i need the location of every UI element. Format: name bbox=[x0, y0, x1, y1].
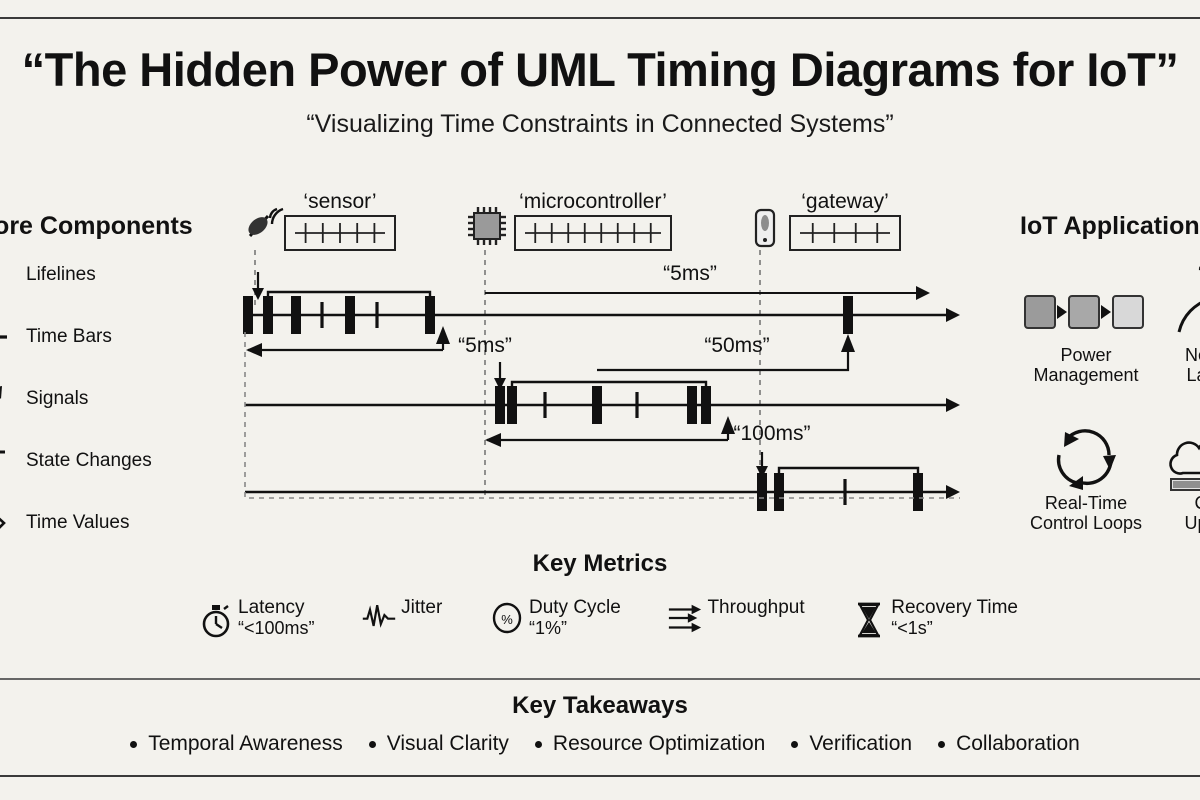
tag-icon bbox=[0, 507, 16, 539]
lifeline-name-0: ‘sensor’ bbox=[303, 190, 376, 213]
bullet-icon bbox=[130, 741, 137, 748]
measure-5ms-top: “5ms” bbox=[663, 262, 717, 285]
state-bracket bbox=[512, 382, 706, 387]
sensor-track bbox=[243, 292, 853, 334]
measure-100ms: “100ms” bbox=[733, 422, 810, 445]
app-label-line1: Network bbox=[1152, 345, 1200, 365]
span-arrow-top bbox=[485, 286, 930, 300]
app-note: ‘RTT’ bbox=[1152, 263, 1200, 279]
lifeline-name-1: ‘microcontroller’ bbox=[519, 190, 667, 213]
state-bracket bbox=[268, 292, 430, 297]
app-item-power-management[interactable]: Power Management bbox=[1020, 263, 1152, 411]
lifeline-header-0 bbox=[285, 216, 395, 250]
app-label-line1: Power bbox=[1020, 345, 1152, 365]
cloud-download-icon bbox=[1152, 427, 1200, 493]
bullet-icon bbox=[791, 741, 798, 748]
time-bar bbox=[320, 302, 323, 328]
time-bar bbox=[635, 392, 638, 418]
section-divider-rule bbox=[0, 678, 1200, 680]
app-note bbox=[1020, 411, 1152, 427]
metric-duty-cycle[interactable]: % Duty Cycle “1%” bbox=[489, 598, 621, 640]
waveform-icon bbox=[361, 598, 397, 631]
time-bar bbox=[425, 296, 435, 334]
takeaway-label: Temporal Awareness bbox=[148, 732, 343, 756]
time-bar bbox=[687, 386, 697, 424]
lifeline-header-1 bbox=[515, 216, 671, 250]
metric-throughput[interactable]: Throughput bbox=[667, 598, 804, 635]
legend-item-state-changes[interactable]: State Changes bbox=[0, 433, 192, 489]
vertical-line-icon bbox=[0, 253, 16, 297]
app-label-line1: Cloud bbox=[1152, 493, 1200, 513]
key-takeaways-row: Temporal Awareness Visual Clarity Resour… bbox=[0, 732, 1200, 756]
key-takeaways-title: Key Takeaways bbox=[0, 692, 1200, 720]
takeaway-label: Resource Optimization bbox=[553, 732, 765, 756]
signal-arrow-0 bbox=[252, 272, 264, 300]
time-bar bbox=[913, 473, 923, 511]
time-bar bbox=[701, 386, 711, 424]
step-change-icon bbox=[0, 446, 16, 476]
measure-5ms-sensor-arrow bbox=[246, 326, 450, 357]
metric-name: Recovery Time bbox=[891, 597, 1018, 618]
time-bar bbox=[495, 386, 505, 424]
satellite-dish-icon bbox=[245, 209, 283, 238]
microcontroller-track bbox=[495, 382, 711, 424]
app-note bbox=[1152, 411, 1200, 427]
time-bar bbox=[345, 296, 355, 334]
takeaway-item[interactable]: Visual Clarity bbox=[343, 732, 509, 756]
key-metrics-title: Key Metrics bbox=[0, 550, 1200, 578]
app-label-line2: Updates bbox=[1152, 513, 1200, 533]
app-item-realtime-control-loops[interactable]: Real-Time Control Loops bbox=[1020, 411, 1152, 559]
page-title: “The Hidden Power of UML Timing Diagrams… bbox=[0, 42, 1200, 97]
time-bar bbox=[375, 302, 378, 328]
time-bar bbox=[843, 479, 846, 505]
page-subtitle: “Visualizing Time Constraints in Connect… bbox=[0, 110, 1200, 139]
legend-item-signals[interactable]: Signals bbox=[0, 371, 192, 427]
takeaway-item[interactable]: Verification bbox=[765, 732, 912, 756]
signal-arrow-2 bbox=[756, 452, 768, 478]
app-label-line1: Real-Time bbox=[1020, 493, 1152, 513]
time-bar bbox=[757, 473, 767, 511]
gateway-track bbox=[757, 468, 923, 511]
time-bar bbox=[592, 386, 602, 424]
time-bar bbox=[243, 296, 253, 334]
signal-arc-icon bbox=[1152, 279, 1200, 345]
lifeline-header-2 bbox=[790, 216, 900, 250]
lifeline-name-2: ‘gateway’ bbox=[801, 190, 889, 213]
legend-label: Time Bars bbox=[26, 326, 112, 348]
legend-item-time-bars[interactable]: Time Bars bbox=[0, 309, 192, 365]
battery-stages-icon bbox=[1020, 279, 1152, 345]
iot-applications-panel: IoT Applications Power Management ‘RTT’ bbox=[1020, 212, 1200, 559]
key-metrics-row: Latency “<100ms” Jitter % Duty Cycle “1%… bbox=[198, 598, 1018, 640]
metric-jitter[interactable]: Jitter bbox=[361, 598, 442, 631]
measure-100ms-arrow bbox=[485, 416, 735, 447]
bullet-icon bbox=[535, 741, 542, 748]
app-item-network-latency[interactable]: ‘RTT’ Network Latency bbox=[1152, 263, 1200, 411]
legend-label: State Changes bbox=[26, 450, 152, 472]
legend-item-lifelines[interactable]: Lifelines bbox=[0, 247, 192, 303]
bullet-icon bbox=[938, 741, 945, 748]
metric-latency[interactable]: Latency “<100ms” bbox=[198, 598, 315, 640]
takeaway-item[interactable]: Collaboration bbox=[912, 732, 1080, 756]
metric-value: “1%” bbox=[529, 618, 567, 638]
bottom-frame-rule bbox=[0, 775, 1200, 777]
legend-label: Time Values bbox=[26, 512, 129, 534]
state-bracket bbox=[779, 468, 918, 474]
time-bar bbox=[543, 392, 546, 418]
time-bar bbox=[843, 296, 853, 334]
bullet-icon bbox=[369, 741, 376, 748]
metric-value: “<100ms” bbox=[238, 618, 315, 638]
chip-icon bbox=[468, 207, 506, 245]
metric-value: “<1s” bbox=[891, 618, 933, 638]
measure-50ms: “50ms” bbox=[704, 334, 769, 357]
metric-name: Latency bbox=[238, 597, 305, 618]
metric-name: Duty Cycle bbox=[529, 597, 621, 618]
signal-arrow-1 bbox=[494, 362, 506, 390]
measure-5ms-sensor: “5ms” bbox=[458, 334, 512, 357]
app-item-cloud-updates[interactable]: Cloud Updates bbox=[1152, 411, 1200, 559]
app-label-line2: Management bbox=[1020, 365, 1152, 385]
iot-applications-title: IoT Applications bbox=[1020, 212, 1200, 241]
stopwatch-icon bbox=[198, 598, 234, 639]
metric-recovery-time[interactable]: Recovery Time “<1s” bbox=[851, 598, 1018, 640]
app-label-line2: Latency bbox=[1152, 365, 1200, 385]
legend-item-time-values[interactable]: Time Values bbox=[0, 495, 192, 551]
time-bar bbox=[507, 386, 517, 424]
takeaway-label: Verification bbox=[809, 732, 912, 756]
takeaway-item[interactable]: Resource Optimization bbox=[509, 732, 765, 756]
time-bar bbox=[774, 473, 784, 511]
measure-50ms-arrow bbox=[597, 334, 855, 370]
sensor-track-axis bbox=[245, 308, 960, 322]
time-bar bbox=[263, 296, 273, 334]
takeaway-label: Visual Clarity bbox=[387, 732, 509, 756]
takeaway-label: Collaboration bbox=[956, 732, 1080, 756]
throughput-arrows-icon bbox=[667, 598, 703, 635]
gateway-track-axis bbox=[245, 485, 960, 499]
metric-name: Throughput bbox=[707, 597, 804, 618]
hourglass-icon bbox=[851, 598, 887, 639]
legend-label: Signals bbox=[26, 388, 88, 410]
outer-guide bbox=[245, 332, 960, 498]
svg-text:%: % bbox=[501, 612, 513, 627]
time-bar bbox=[291, 296, 301, 334]
cycle-arrows-icon bbox=[1020, 427, 1152, 493]
app-note bbox=[1020, 263, 1152, 279]
percent-circle-icon: % bbox=[489, 598, 525, 635]
core-components-panel: Core Components Lifelines Time Bars Sign… bbox=[0, 212, 192, 551]
device-icon bbox=[756, 210, 774, 246]
core-components-title: Core Components bbox=[0, 212, 192, 241]
app-label-line2: Control Loops bbox=[1020, 513, 1152, 533]
diagonal-arrow-icon bbox=[0, 382, 16, 416]
legend-label: Lifelines bbox=[26, 264, 96, 286]
microcontroller-track-axis bbox=[245, 398, 960, 412]
takeaway-item[interactable]: Temporal Awareness bbox=[130, 732, 343, 756]
top-frame-rule bbox=[0, 17, 1200, 19]
metric-name: Jitter bbox=[401, 597, 442, 618]
horizontal-bar-icon bbox=[0, 327, 16, 347]
